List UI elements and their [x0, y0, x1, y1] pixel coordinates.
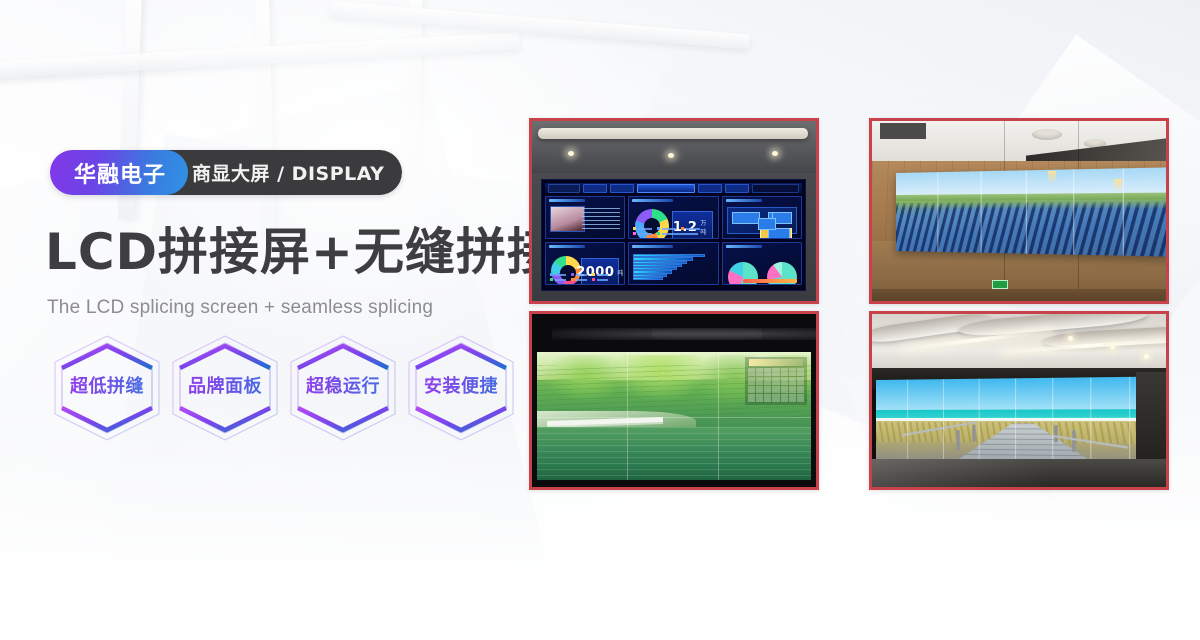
screen-bezel-left	[532, 350, 537, 487]
screen-bezel-bottom	[532, 480, 816, 487]
panel-seam	[1129, 377, 1130, 463]
ceiling-vent	[880, 123, 926, 139]
legend-swatch	[571, 273, 574, 276]
legend-text	[555, 279, 566, 281]
legend-swatch	[592, 278, 595, 281]
page-subtitle: The LCD splicing screen + seamless splic…	[47, 297, 433, 319]
flow-diagram	[727, 207, 797, 234]
calendar-cell	[789, 377, 796, 385]
floor	[872, 289, 1166, 301]
calendar-cell	[781, 394, 788, 402]
card-title-bar	[632, 199, 673, 202]
legend-swatch	[550, 278, 553, 281]
bar	[633, 277, 664, 280]
legend-swatch	[657, 232, 660, 235]
screen-rope-post	[973, 425, 976, 441]
calendar-cell	[748, 394, 755, 402]
screen-rope-post	[956, 430, 959, 451]
feature-badge-ultra-stable-operation: 超稳运行	[284, 332, 402, 444]
ceiling-spotlight	[568, 151, 574, 156]
card-title-bar	[632, 245, 673, 248]
calendar-cell	[789, 394, 796, 402]
calendar-cell	[764, 386, 771, 394]
calendar-cell	[756, 377, 763, 385]
legend-entry	[571, 278, 587, 281]
ceiling-downlight	[1144, 354, 1149, 359]
panel-seam	[876, 418, 1159, 419]
status-ticker	[743, 279, 797, 283]
calendar-cell	[789, 386, 796, 394]
legend-entry	[657, 227, 676, 230]
legend-entry	[657, 232, 698, 235]
legend-entry	[550, 278, 566, 281]
calendar-cell	[789, 368, 796, 376]
card-title-bar	[549, 245, 585, 248]
panel-seam	[981, 171, 982, 253]
legend-text	[686, 228, 700, 230]
legend-entry	[633, 232, 652, 235]
feature-badge-brand-panel: 品牌面板	[166, 332, 284, 444]
calendar-cell	[772, 394, 779, 402]
flow-node	[758, 218, 776, 230]
calendar-cell	[772, 386, 779, 394]
legend-swatch	[571, 278, 574, 281]
calendar-cell	[756, 386, 763, 394]
card-image-thumbnail	[550, 206, 585, 232]
feature-badge-label: 超稳运行	[284, 372, 402, 398]
calendar-grid	[748, 368, 804, 402]
photo-willow-lake-video-wall	[529, 311, 819, 490]
ceiling-coving	[538, 128, 808, 139]
brand-badge-category: 商显大屏 / DISPLAY	[166, 150, 402, 195]
dashboard-card-distribution: 2000 吨	[545, 242, 625, 285]
screen-sky	[876, 376, 1159, 412]
dashboard-card-flow	[722, 196, 802, 239]
chart-legend	[550, 267, 620, 281]
wall-wash-lamp	[1048, 171, 1056, 184]
panel-seam	[1052, 378, 1053, 462]
dashboard-card-ranking	[628, 242, 720, 285]
legend-text	[576, 279, 587, 281]
calendar-cell	[797, 377, 804, 385]
panel-seam	[978, 379, 979, 462]
card-text-lines	[582, 208, 619, 230]
dashboard-nav-item	[752, 184, 799, 193]
legend-swatch	[633, 232, 636, 235]
photo-dashboard-video-wall: 1.2 万吨	[529, 118, 819, 304]
legend-swatch	[657, 227, 660, 230]
calendar-cell	[781, 377, 788, 385]
panel-seam	[1123, 168, 1124, 255]
ceiling-downlight	[1110, 344, 1115, 349]
ceiling-downlight	[1068, 336, 1073, 341]
legend-text	[662, 228, 676, 230]
legend-entry	[592, 278, 608, 281]
ceiling-reflection	[652, 328, 819, 340]
calendar-cell	[748, 386, 755, 394]
legend-text	[597, 274, 608, 276]
dashboard-card-pies	[722, 242, 802, 285]
scene-willow-lake	[532, 314, 816, 487]
calendar-cell	[756, 368, 763, 376]
calendar-cell	[797, 386, 804, 394]
panel-seam	[937, 172, 938, 252]
legend-swatch	[592, 273, 595, 276]
legend-text	[638, 233, 652, 235]
panel-seam	[1090, 377, 1091, 462]
video-wall-screen	[896, 167, 1169, 256]
video-wall-screen	[536, 352, 812, 481]
screen-bezel-right	[811, 350, 816, 487]
scene-beach-boardwalk	[872, 314, 1166, 487]
legend-entry	[633, 227, 652, 230]
calendar-cell	[772, 368, 779, 376]
screen-water-ripples	[536, 427, 812, 481]
calendar-overlay	[745, 357, 807, 405]
floor-reflection	[872, 459, 1166, 487]
calendar-cell	[748, 368, 755, 376]
legend-text	[576, 274, 587, 276]
calendar-cell	[764, 377, 771, 385]
calendar-cell	[764, 394, 771, 402]
product-banner: 华融电子 商显大屏 / DISPLAY LCD拼接屏+无缝拼接 The LCD …	[0, 0, 1200, 640]
calendar-header	[749, 359, 803, 366]
ceiling-spotlight	[772, 151, 778, 156]
legend-entry	[571, 273, 587, 276]
video-wall-screen	[876, 376, 1159, 463]
legend-entry	[550, 273, 566, 276]
dashboard-nav-item	[698, 184, 722, 193]
calendar-cell	[781, 386, 788, 394]
card-title-bar	[549, 199, 585, 202]
flow-node	[732, 212, 760, 224]
dashboard-card-statistics: 1.2 万吨	[628, 196, 720, 239]
photo-beach-boardwalk-video-wall	[869, 311, 1169, 490]
category-badge-label: 商显大屏 / DISPLAY	[192, 159, 384, 186]
legend-entry	[681, 227, 700, 230]
dashboard-nav-item	[610, 184, 634, 193]
panel-seam	[536, 417, 812, 418]
calendar-cell	[748, 377, 755, 385]
dashboard-nav-bar	[545, 183, 802, 193]
page-title: LCD拼接屏+无缝拼接	[45, 226, 558, 279]
bar-chart	[633, 254, 715, 280]
legend-entry	[592, 273, 608, 276]
exit-sign-icon	[992, 280, 1008, 289]
card-title-bar	[726, 245, 762, 248]
dashboard-nav-item	[583, 184, 607, 193]
chart-legend	[633, 221, 715, 235]
dashboard-nav-item-active	[637, 184, 695, 193]
ceiling-disc-light	[1032, 129, 1062, 140]
calendar-cell	[772, 377, 779, 385]
calendar-cell	[781, 368, 788, 376]
calendar-cell	[797, 394, 804, 402]
calendar-cell	[756, 394, 763, 402]
wall-wash-lamp	[1114, 179, 1122, 192]
feature-badge-ultra-low-seam: 超低拼缝	[48, 332, 166, 444]
scene-solar-farm	[872, 121, 1166, 301]
dashboard-nav-item	[725, 184, 749, 193]
panel-seam	[942, 379, 943, 461]
legend-text	[555, 274, 566, 276]
card-title-bar	[726, 199, 762, 202]
brand-badge: 华融电子 商显大屏 / DISPLAY	[50, 150, 402, 195]
panel-seam	[1073, 169, 1074, 254]
legend-text	[638, 228, 652, 230]
dashboard-timestamp	[548, 184, 580, 193]
product-photo-grid: 1.2 万吨	[529, 118, 1169, 492]
brand-badge-label: 华融电子	[74, 157, 166, 189]
legend-text	[597, 279, 608, 281]
screen-rope-post	[1054, 425, 1057, 442]
calendar-cell	[764, 368, 771, 376]
scene-dashboard: 1.2 万吨	[532, 121, 816, 301]
legend-swatch	[681, 227, 684, 230]
legend-text	[662, 233, 698, 235]
photo-solar-farm-video-wall	[869, 118, 1169, 304]
panel-seam	[1026, 170, 1027, 253]
panel-seam	[1015, 378, 1016, 461]
calendar-cell	[797, 368, 804, 376]
brand-badge-primary: 华融电子	[50, 150, 188, 195]
feature-badge-row: 超低拼缝 品牌面板 超稳运行	[48, 332, 518, 447]
feature-badge-label: 超低拼缝	[48, 372, 166, 398]
banner-text-column: 华融电子 商显大屏 / DISPLAY LCD拼接屏+无缝拼接 The LCD …	[0, 0, 530, 640]
dashboard-card-overview	[545, 196, 625, 239]
feature-badge-easy-installation: 安装便捷	[402, 332, 520, 444]
side-wall	[1136, 372, 1166, 461]
legend-swatch	[550, 273, 553, 276]
feature-badge-label: 安装便捷	[402, 372, 520, 398]
legend-swatch	[633, 227, 636, 230]
dashboard-card-grid: 1.2 万吨	[545, 196, 802, 285]
feature-badge-label: 品牌面板	[166, 372, 284, 398]
ceiling-spotlight	[668, 153, 674, 158]
panel-seam	[908, 380, 909, 461]
screen-rope-post	[1072, 430, 1075, 451]
video-wall-screen: 1.2 万吨	[541, 179, 806, 291]
